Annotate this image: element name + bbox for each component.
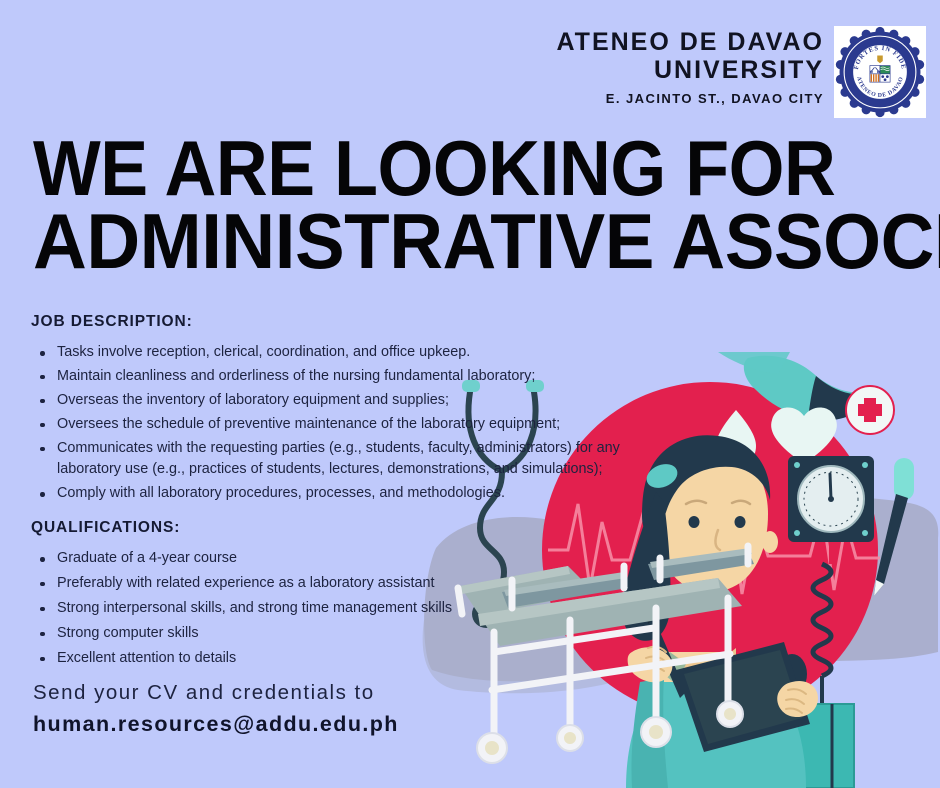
qualifications-list: Graduate of a 4-year course Preferably w…: [31, 548, 531, 669]
headline: WE ARE LOOKING FOR ADMINISTRATIVE ASSOCI…: [33, 132, 913, 279]
headline-line-1: WE ARE LOOKING FOR: [33, 132, 843, 205]
header-text-block: ATENEO DE DAVAO UNIVERSITY E. JACINTO ST…: [494, 26, 824, 106]
university-seal-logo: FORTES IN FIDE ATENEO DE DAVAO: [834, 26, 926, 118]
contact-email[interactable]: human.resources@addu.edu.ph: [33, 709, 399, 740]
list-item: Overseas the inventory of laboratory equ…: [31, 390, 641, 412]
list-item: Preferably with related experience as a …: [31, 573, 531, 595]
job-description-list: Tasks involve reception, clerical, coord…: [31, 342, 641, 505]
list-item: Strong computer skills: [31, 623, 531, 645]
call-to-action-text: Send your CV and credentials to: [33, 678, 399, 709]
qualifications-section: QUALIFICATIONS: Graduate of a 4-year cou…: [31, 519, 531, 672]
qualifications-title: QUALIFICATIONS:: [31, 519, 531, 537]
list-item: Comply with all laboratory procedures, p…: [31, 483, 641, 505]
list-item: Excellent attention to details: [31, 648, 531, 670]
list-item: Maintain cleanliness and orderliness of …: [31, 366, 641, 388]
job-description-title: JOB DESCRIPTION:: [31, 313, 641, 331]
list-item: Communicates with the requesting parties…: [31, 438, 641, 482]
contact-footer: Send your CV and credentials to human.re…: [33, 678, 399, 740]
list-item: Graduate of a 4-year course: [31, 548, 531, 570]
red-cross-badge-icon: [846, 386, 894, 434]
list-item: Oversees the schedule of preventive main…: [31, 414, 641, 436]
list-item: Strong interpersonal skills, and strong …: [31, 598, 531, 620]
organization-name: ATENEO DE DAVAO UNIVERSITY: [494, 28, 824, 84]
header: ATENEO DE DAVAO UNIVERSITY E. JACINTO ST…: [494, 26, 926, 118]
headline-line-2: ADMINISTRATIVE ASSOCIATE: [33, 205, 873, 278]
list-item: Tasks involve reception, clerical, coord…: [31, 342, 641, 364]
organization-address: E. JACINTO ST., DAVAO CITY: [494, 91, 824, 106]
job-posting-poster: ATENEO DE DAVAO UNIVERSITY E. JACINTO ST…: [0, 0, 940, 788]
job-description-section: JOB DESCRIPTION: Tasks involve reception…: [31, 313, 641, 507]
